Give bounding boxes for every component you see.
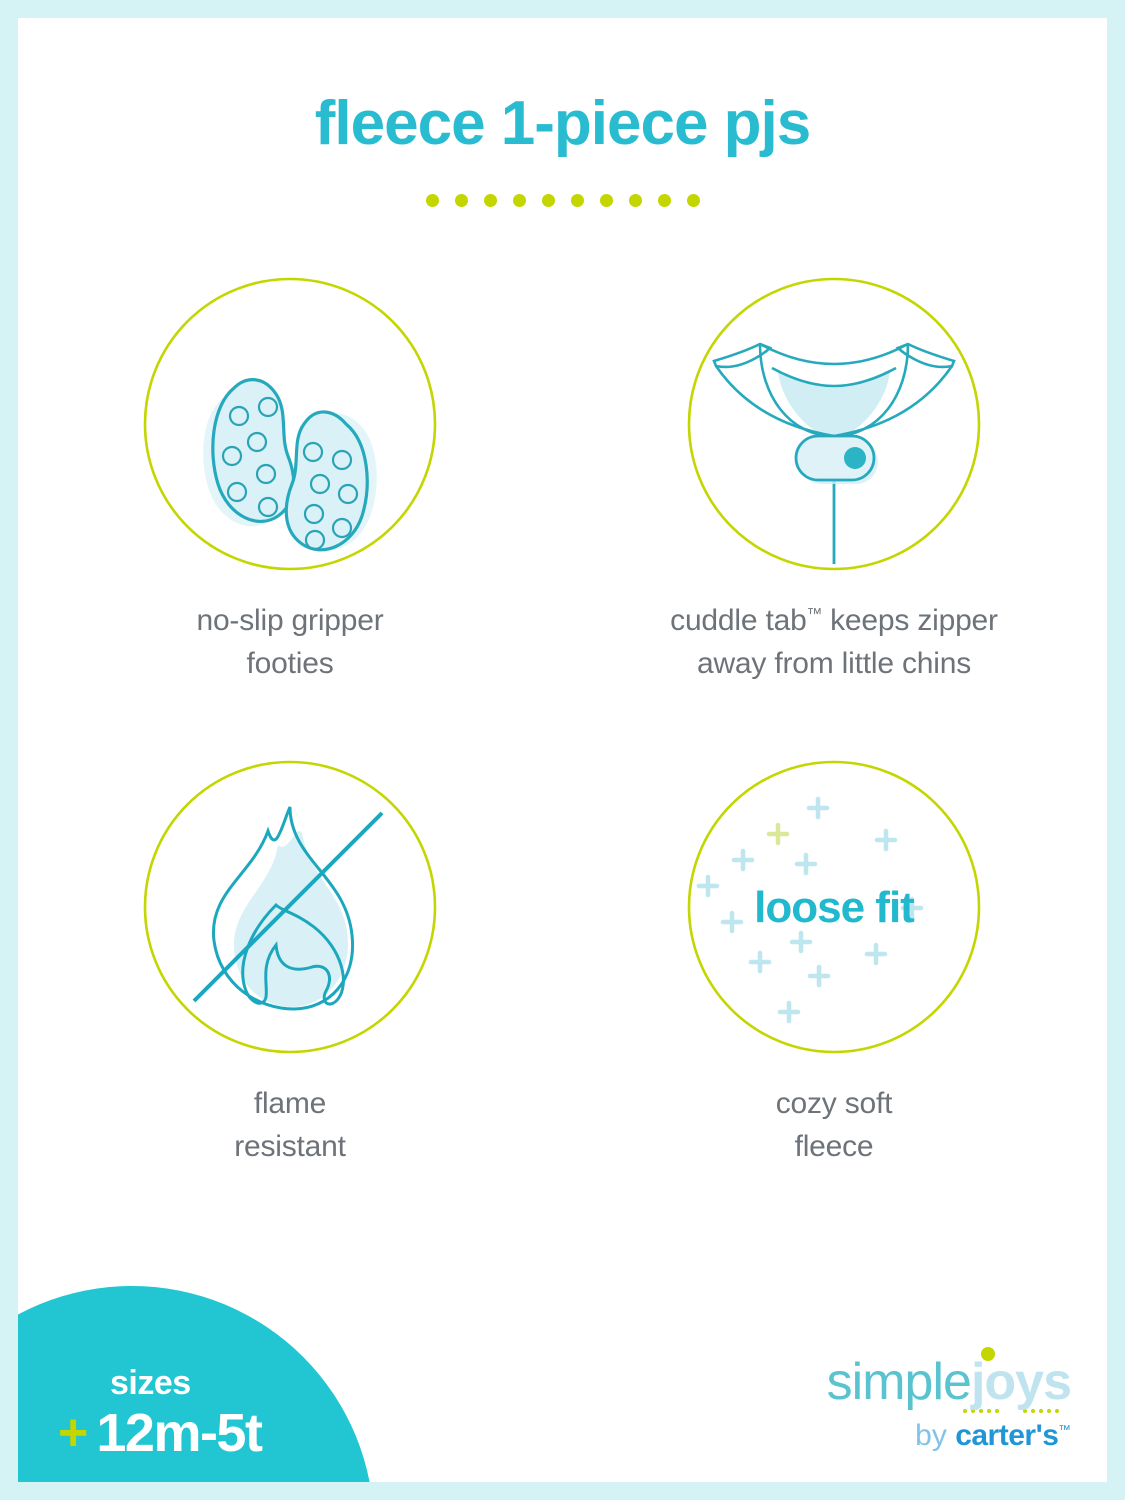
caption-line-2: footies: [196, 643, 383, 686]
divider-dot: [571, 194, 584, 207]
sizes-value: 12m-5t: [96, 1406, 261, 1460]
divider-dot: [455, 194, 468, 207]
brand-logo: simplejoys by carter's™: [771, 1356, 1071, 1451]
title-divider-dots: [18, 194, 1107, 207]
caption-line-1: cozy soft: [776, 1083, 893, 1126]
feature-caption: no-slip gripper footies: [196, 600, 383, 685]
brand-simple: simple: [827, 1353, 971, 1411]
divider-dot: [484, 194, 497, 207]
gripper-footies-icon: [142, 276, 438, 572]
flame-resistant-icon: [142, 759, 438, 1055]
loose-fit-badge: loose fit: [686, 883, 982, 933]
divider-dot: [687, 194, 700, 207]
plus-icon: +: [58, 1407, 88, 1459]
joys-dot-icon: [981, 1347, 995, 1361]
loose-fit-sparkle-icon: loose fit: [686, 759, 982, 1055]
divider-dot: [513, 194, 526, 207]
brand-by: by: [915, 1419, 955, 1452]
caption-line-1: flame: [234, 1083, 346, 1126]
brand-joys: joys: [971, 1353, 1071, 1411]
brand-sub-wordmark: by carter's™: [771, 1421, 1071, 1451]
brand-carters: carter's: [955, 1419, 1058, 1452]
brand-trademark: ™: [1058, 1423, 1071, 1437]
feature-caption: flame resistant: [234, 1083, 346, 1168]
feature-caption: cuddle tab™ keeps zipper away from littl…: [670, 600, 998, 685]
page-title: fleece 1-piece pjs: [18, 93, 1107, 155]
divider-dot: [658, 194, 671, 207]
sizes-block: sizes + 12m-5t: [58, 1366, 358, 1460]
caption-text: cuddle tab: [670, 604, 806, 637]
cuddle-tab-collar-icon: [686, 276, 982, 572]
sizes-value-row: + 12m-5t: [58, 1406, 358, 1460]
caption-line-2: resistant: [234, 1126, 346, 1169]
caption-line-1: cuddle tab™ keeps zipper: [670, 600, 998, 643]
feature-row-2: flame resistant: [18, 759, 1107, 1168]
zipper-pull-dot: [844, 447, 866, 469]
caption-line-2: away from little chins: [670, 643, 998, 686]
divider-dot: [600, 194, 613, 207]
content-canvas: fleece 1-piece pjs: [18, 18, 1107, 1482]
feature-caption: cozy soft fleece: [776, 1083, 893, 1168]
feature-gripper-footies: no-slip gripper footies: [18, 276, 562, 685]
divider-dot: [629, 194, 642, 207]
feature-grid: no-slip gripper footies: [18, 276, 1107, 1168]
divider-dot: [542, 194, 555, 207]
feature-flame-resistant: flame resistant: [18, 759, 562, 1168]
infographic-page: fleece 1-piece pjs: [0, 0, 1125, 1500]
brand-wordmark: simplejoys: [771, 1356, 1071, 1408]
feature-row-1: no-slip gripper footies: [18, 276, 1107, 685]
sizes-label: sizes: [110, 1366, 358, 1400]
brand-joys-text: joys: [971, 1353, 1071, 1411]
caption-line-1: no-slip gripper: [196, 600, 383, 643]
brand-dot: [963, 1409, 967, 1413]
divider-dot: [426, 194, 439, 207]
feature-cuddle-tab: cuddle tab™ keeps zipper away from littl…: [562, 276, 1106, 685]
feature-cozy-soft-fleece: loose fit cozy soft fleece: [562, 759, 1106, 1168]
trademark-symbol: ™: [807, 606, 822, 623]
caption-line-2: fleece: [776, 1126, 893, 1169]
caption-text-rest: keeps zipper: [822, 604, 998, 637]
